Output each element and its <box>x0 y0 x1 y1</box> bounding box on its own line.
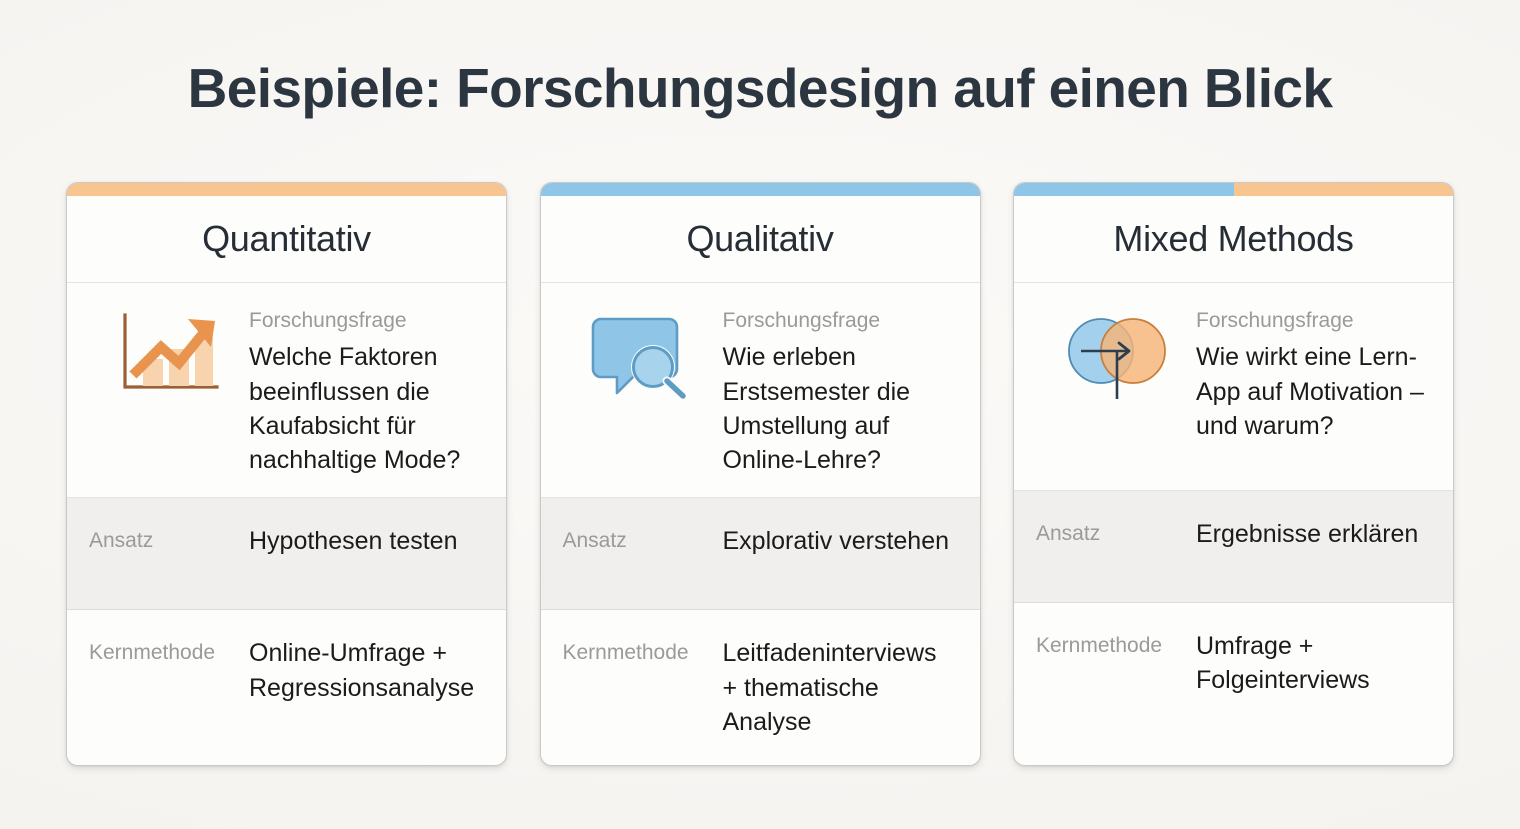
card-mixed-methods[interactable]: Mixed Methods Forschungsfrage Wie wirkt … <box>1013 182 1454 766</box>
ansatz-value: Hypothesen testen <box>249 524 482 558</box>
trending-chart-icon <box>89 307 249 397</box>
row-ansatz: Ansatz Hypothesen testen <box>67 498 506 610</box>
row-ansatz: Ansatz Ergebnisse erklären <box>1014 491 1453 603</box>
row-forschungsfrage: Forschungsfrage Wie wirkt eine Lern-App … <box>1014 283 1453 491</box>
slide-root: Beispiele: Forschungsdesign auf einen Bl… <box>0 0 1520 829</box>
ansatz-label: Ansatz <box>1036 517 1196 548</box>
row-ansatz: Ansatz Explorativ verstehen <box>541 498 980 610</box>
ansatz-body: Ergebnisse erklären <box>1196 517 1429 551</box>
ansatz-label: Ansatz <box>563 524 723 555</box>
kernmethode-body: Umfrage + Folgeinterviews <box>1196 629 1429 698</box>
kernmethode-value: Online-Umfrage + Regressionsanalyse <box>249 636 482 705</box>
forschungsfrage-value: Welche Faktoren beeinflussen die Kaufabs… <box>249 340 482 477</box>
ansatz-body: Explorativ verstehen <box>723 524 956 558</box>
forschungsfrage-label: Forschungsfrage <box>723 307 956 334</box>
accent-segment-blue <box>1014 183 1234 196</box>
forschungsfrage-value: Wie erleben Erstsemester die Umstellung … <box>723 340 956 477</box>
forschungsfrage-body: Forschungsfrage Welche Faktoren beeinflu… <box>249 307 482 477</box>
page-title: Beispiele: Forschungsdesign auf einen Bl… <box>0 58 1520 120</box>
accent-segment-blue <box>541 183 980 196</box>
card-qualitativ[interactable]: Qualitativ Forschungsfrage Wie erleben E… <box>540 182 981 766</box>
row-kernmethode: Kernmethode Online-Umfrage + Regressions… <box>67 610 506 765</box>
accent-segment-orange <box>1234 183 1454 196</box>
speech-bubble-search-icon <box>563 307 723 401</box>
row-kernmethode: Kernmethode Leitfadeninterviews + themat… <box>541 610 980 765</box>
kernmethode-label: Kernmethode <box>563 636 723 667</box>
accent-bar-mixed-methods <box>1014 183 1453 196</box>
kernmethode-label: Kernmethode <box>1036 629 1196 660</box>
forschungsfrage-label: Forschungsfrage <box>249 307 482 334</box>
row-forschungsfrage: Forschungsfrage Wie erleben Erstsemester… <box>541 283 980 498</box>
ansatz-value: Ergebnisse erklären <box>1196 517 1429 551</box>
accent-bar-quantitativ <box>67 183 506 196</box>
ansatz-body: Hypothesen testen <box>249 524 482 558</box>
ansatz-value: Explorativ verstehen <box>723 524 956 558</box>
kernmethode-body: Leitfadeninterviews + thematische Analys… <box>723 636 956 739</box>
card-header-quantitativ: Quantitativ <box>67 196 506 283</box>
forschungsfrage-body: Forschungsfrage Wie wirkt eine Lern-App … <box>1196 307 1429 443</box>
accent-bar-qualitativ <box>541 183 980 196</box>
card-title: Quantitativ <box>202 221 371 257</box>
card-header-mixed-methods: Mixed Methods <box>1014 196 1453 283</box>
venn-arrow-icon <box>1036 307 1196 403</box>
forschungsfrage-body: Forschungsfrage Wie erleben Erstsemester… <box>723 307 956 477</box>
ansatz-label: Ansatz <box>89 524 249 555</box>
accent-segment-orange <box>67 183 506 196</box>
row-forschungsfrage: Forschungsfrage Welche Faktoren beeinflu… <box>67 283 506 498</box>
kernmethode-body: Online-Umfrage + Regressionsanalyse <box>249 636 482 705</box>
card-deck: Quantitativ Forschungsfrage Welche Fak <box>66 182 1454 766</box>
row-kernmethode: Kernmethode Umfrage + Folgeinterviews <box>1014 603 1453 765</box>
kernmethode-label: Kernmethode <box>89 636 249 667</box>
forschungsfrage-label: Forschungsfrage <box>1196 307 1429 334</box>
card-header-qualitativ: Qualitativ <box>541 196 980 283</box>
card-title: Mixed Methods <box>1113 221 1353 257</box>
card-title: Qualitativ <box>686 221 833 257</box>
card-quantitativ[interactable]: Quantitativ Forschungsfrage Welche Fak <box>66 182 507 766</box>
kernmethode-value: Umfrage + Folgeinterviews <box>1196 629 1429 698</box>
forschungsfrage-value: Wie wirkt eine Lern-App auf Motivation –… <box>1196 340 1429 443</box>
kernmethode-value: Leitfadeninterviews + thematische Analys… <box>723 636 956 739</box>
